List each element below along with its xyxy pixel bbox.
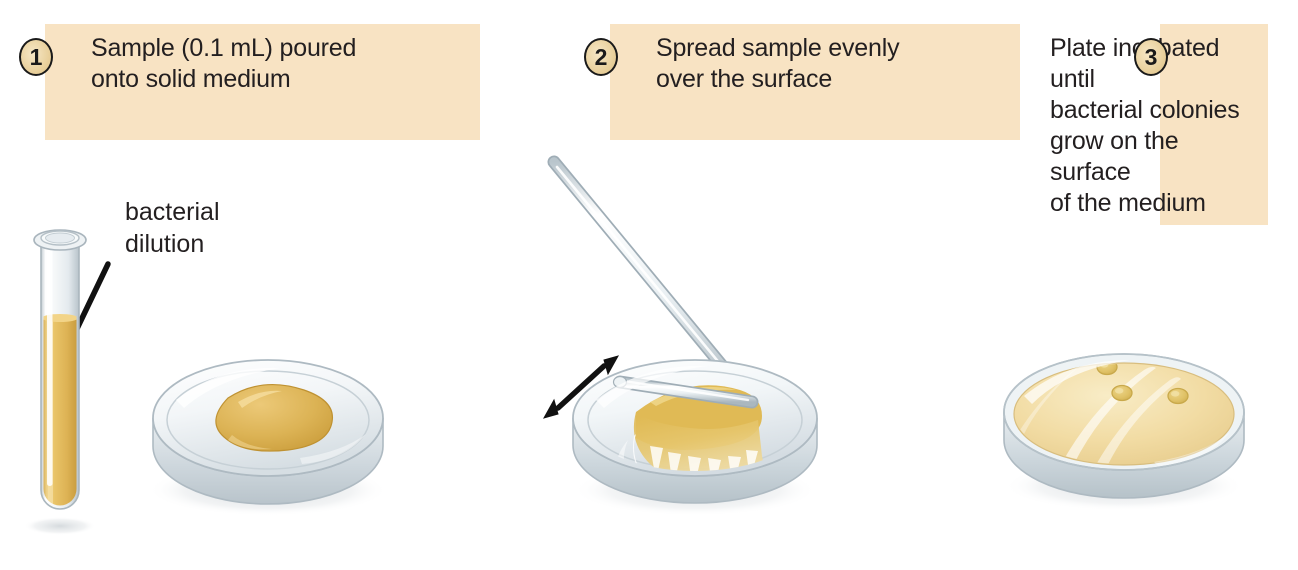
colony	[1112, 386, 1132, 401]
sample-wedge	[636, 385, 762, 450]
bacterial-colonies	[985, 227, 1280, 404]
colony	[1066, 250, 1090, 267]
colony	[1146, 287, 1168, 303]
dish-shadow	[573, 464, 817, 516]
step-1-number-badge: 1	[19, 38, 53, 76]
colony	[1186, 313, 1206, 328]
step-2-caption-box: Spread sample evenly over the surface	[610, 24, 1020, 140]
double-headed-arrow	[544, 356, 618, 418]
growth-medium	[1014, 363, 1234, 465]
petri-dish-with-colonies	[985, 227, 1280, 498]
streak-marks	[633, 434, 758, 492]
step-2-caption-text: Spread sample evenly over the surface	[656, 33, 1010, 95]
colony	[1123, 319, 1143, 334]
diagram-canvas: Sample (0.1 mL) poured onto solid medium…	[0, 0, 1298, 570]
colony	[1168, 353, 1188, 367]
colony	[1156, 264, 1174, 277]
colony	[1035, 360, 1053, 373]
step-1-caption-text: Sample (0.1 mL) poured onto solid medium	[91, 33, 470, 95]
colony	[1223, 262, 1243, 277]
colony	[1136, 348, 1156, 363]
tube-shadow	[24, 517, 96, 535]
colony	[1209, 245, 1231, 261]
colony	[1191, 331, 1213, 347]
bacterial-dilution-label: bacterial dilution	[125, 196, 220, 260]
dish-shadow	[148, 464, 388, 516]
step-2-number-badge: 2	[584, 38, 618, 76]
sample-droplet	[216, 385, 333, 452]
glass-spreader-rod-tip	[614, 377, 753, 403]
petri-dish-being-spread	[573, 360, 817, 510]
glass-spreader-rod-shaft	[554, 162, 752, 402]
step-1-number: 1	[30, 46, 43, 69]
step-2-number: 2	[595, 46, 608, 69]
colony	[1231, 348, 1251, 362]
colony	[1089, 328, 1111, 344]
colony	[1168, 389, 1188, 404]
agar-sheen	[1020, 364, 1181, 475]
dish-shadow	[1004, 461, 1244, 511]
step-1-caption-box: Sample (0.1 mL) poured onto solid medium	[45, 24, 480, 140]
step-3-number-badge: 3	[1134, 38, 1168, 76]
colony	[1037, 333, 1059, 349]
step-2-illustration	[500, 150, 900, 570]
step-3-caption-box: Plate incubated until bacterial colonies…	[1160, 24, 1268, 225]
colony	[1019, 275, 1041, 291]
colony	[1168, 278, 1188, 292]
colony	[1102, 267, 1124, 283]
colony	[1221, 325, 1241, 340]
colony	[1245, 293, 1265, 308]
step-3-number: 3	[1145, 46, 1158, 69]
colony	[1004, 289, 1024, 304]
colony	[1097, 360, 1117, 375]
smear-region	[634, 412, 763, 487]
colony	[985, 321, 1005, 336]
colony	[1201, 291, 1221, 306]
colony	[1052, 296, 1074, 312]
colony	[1097, 293, 1117, 308]
leader-line	[62, 264, 108, 360]
test-tube	[34, 230, 86, 509]
colony	[1179, 241, 1199, 256]
petri-dish-with-sample-droplet	[153, 360, 383, 504]
colony	[1135, 237, 1157, 253]
colony	[1140, 227, 1160, 241]
colony	[1260, 319, 1280, 334]
